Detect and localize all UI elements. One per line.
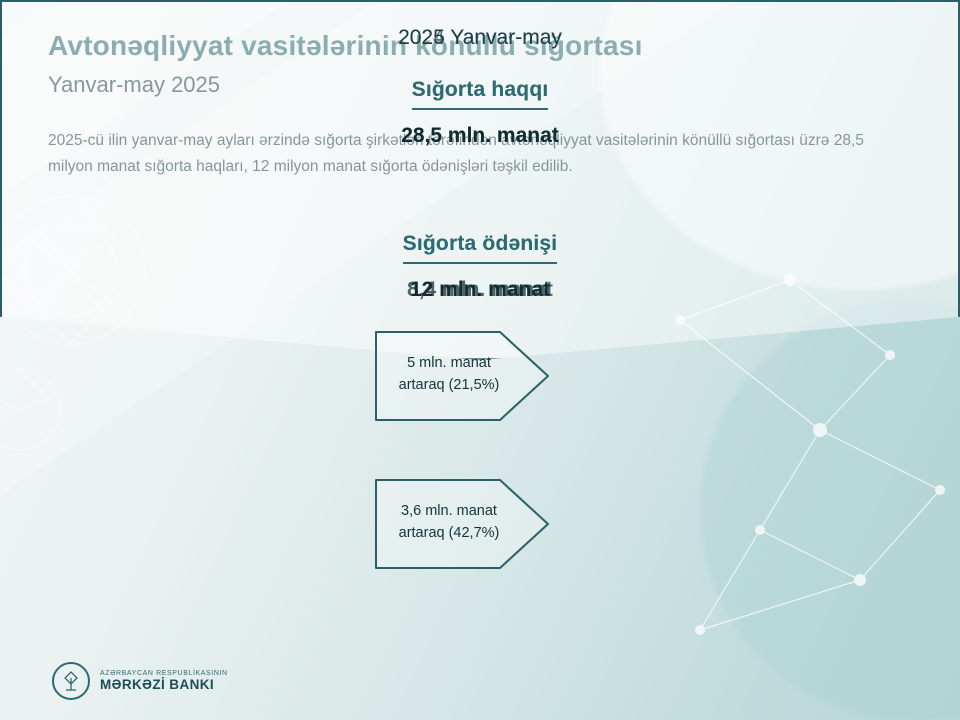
logo-line-2: MƏRKƏZİ BANKI	[100, 677, 228, 692]
arrow-premium-change: 5 mln. manat artaraq (21,5%)	[374, 330, 552, 422]
emblem-glyph-icon	[60, 670, 82, 692]
logo-text: AZƏRBAYCAN RESPUBLİKASININ MƏRKƏZİ BANKI	[100, 670, 228, 692]
metric-value-payout-2025: 12 mln. manat	[20, 278, 940, 302]
arrow-premium-change-text: 5 mln. manat artaraq (21,5%)	[374, 352, 524, 396]
arrow-payout-change-line2: artaraq (42,7%)	[374, 522, 524, 544]
arrow-payout-change: 3,6 mln. manat artaraq (42,7%)	[374, 478, 552, 570]
slide-canvas: Avtonəqliyyat vasitələrinin könüllü sığo…	[0, 0, 960, 720]
bg-blob-2	[700, 300, 960, 720]
metric-label-payout-2025: Sığorta ödənişi	[403, 232, 558, 264]
central-bank-emblem-icon	[52, 662, 90, 700]
arrow-premium-change-line1: 5 mln. manat	[374, 352, 524, 374]
logo-line-1: AZƏRBAYCAN RESPUBLİKASININ	[100, 670, 228, 677]
panel-2025-metric-premium: Sığorta haqqı 28,5 mln. manat	[20, 78, 940, 148]
panel-2025-content: 2025 Yanvar-may Sığorta haqqı 28,5 mln. …	[2, 2, 958, 358]
arrow-payout-change-line1: 3,6 mln. manat	[374, 500, 524, 522]
arrow-payout-change-text: 3,6 mln. manat artaraq (42,7%)	[374, 500, 524, 544]
panel-2025: 2025 Yanvar-may Sığorta haqqı 28,5 mln. …	[0, 0, 960, 360]
panel-2025-metric-payout: Sığorta ödənişi 12 mln. manat	[20, 232, 940, 302]
logo: AZƏRBAYCAN RESPUBLİKASININ MƏRKƏZİ BANKI	[52, 662, 228, 700]
metric-label-premium-2025: Sığorta haqqı	[412, 78, 549, 110]
metric-value-premium-2025: 28,5 mln. manat	[20, 124, 940, 148]
panel-2025-period: 2025 Yanvar-may	[20, 26, 940, 50]
arrow-premium-change-line2: artaraq (21,5%)	[374, 374, 524, 396]
